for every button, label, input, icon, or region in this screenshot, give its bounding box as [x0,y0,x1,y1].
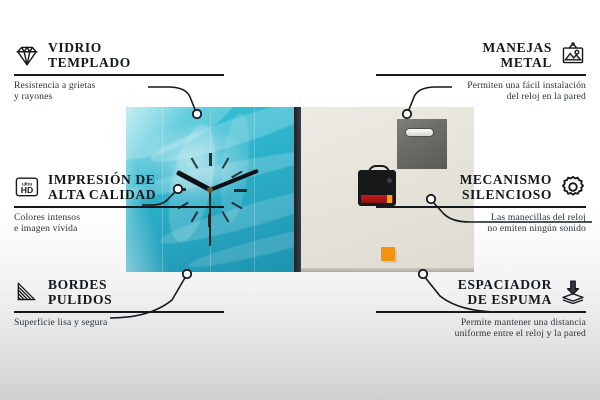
feature-title-line1: MECANISMO [460,172,552,187]
feature-description: Permiten una fácil instalación del reloj… [376,80,586,103]
feature-desc-line1: Superficie lisa y segura [14,317,224,329]
feature-title-line2: SILENCIOSO [460,187,552,202]
feature-title-line2: DE ESPUMA [458,292,552,307]
foam-spacer [381,247,395,261]
feature-divider [14,206,224,208]
feature-divider [376,206,586,208]
feature-description: Superficie lisa y segura [14,317,224,329]
feature-divider [376,311,586,313]
feature-title: ESPACIADOR DE ESPUMA [458,277,552,307]
feature-title-line1: ESPACIADOR [458,277,552,292]
gear-icon [560,174,586,200]
feature-desc-line1: Permiten una fácil instalación [376,80,586,92]
feature-desc-line2: no emiten ningún sonido [376,223,586,235]
feature-title: IMPRESIÓN DE ALTA CALIDAD [48,172,156,202]
feature-desc-line1: Las manecillas del reloj [376,212,586,224]
feature-bordes-pulidos: BORDES PULIDOS Superficie lisa y segura [14,277,224,328]
svg-text:HD: HD [21,185,33,195]
feature-description: Las manecillas del reloj no emiten ningú… [376,212,586,235]
feature-mecanismo-silencioso: MECANISMO SILENCIOSO Las manecillas del … [376,172,586,235]
ultra-hd-badge-icon: ultra HD [14,174,40,200]
feature-desc-line1: Resistencia a grietas [14,80,224,92]
feature-title-line2: ALTA CALIDAD [48,187,156,202]
arrow-down-pad-icon [560,279,586,305]
feature-impresion-alta-calidad: ultra HD IMPRESIÓN DE ALTA CALIDAD Color… [14,172,224,235]
feature-espaciador-espuma: ESPACIADOR DE ESPUMA Permite mantener un… [376,277,586,340]
feature-title: BORDES PULIDOS [48,277,112,307]
feature-title-line1: BORDES [48,277,112,292]
polished-edge-icon [14,279,40,305]
feature-desc-line2: del reloj en la pared [376,91,586,103]
feature-desc-line2: y rayones [14,91,224,103]
feature-desc-line2: uniforme entre el reloj y la pared [376,328,586,340]
feature-title-line1: IMPRESIÓN DE [48,172,156,187]
feature-divider [376,74,586,76]
infographic-canvas: VIDRIO TEMPLADO Resistencia a grietas y … [0,0,600,400]
feature-title: MECANISMO SILENCIOSO [460,172,552,202]
feature-title: VIDRIO TEMPLADO [48,40,131,70]
feature-divider [14,74,224,76]
feature-divider [14,311,224,313]
hanger-slot [406,129,433,136]
feature-description: Permite mantener una distancia uniforme … [376,317,586,340]
feature-vidrio-templado: VIDRIO TEMPLADO Resistencia a grietas y … [14,40,224,103]
feature-desc-line2: e imagen vívida [14,223,224,235]
diamond-icon [14,42,40,68]
feature-desc-line1: Colores intensos [14,212,224,224]
feature-title-line1: MANEJAS [483,40,552,55]
feature-title-line1: VIDRIO [48,40,131,55]
feature-desc-line1: Permite mantener una distancia [376,317,586,329]
metal-hanger-plate [397,119,447,169]
feature-title-line2: METAL [483,55,552,70]
feature-title-line2: TEMPLADO [48,55,131,70]
feature-description: Resistencia a grietas y rayones [14,80,224,103]
feature-manejas-metal: MANEJAS METAL Permiten una fácil instala… [376,40,586,103]
clock-side-edge [294,107,301,272]
hanging-frame-icon [560,42,586,68]
feature-title: MANEJAS METAL [483,40,552,70]
feature-title-line2: PULIDOS [48,292,112,307]
feature-description: Colores intensos e imagen vívida [14,212,224,235]
